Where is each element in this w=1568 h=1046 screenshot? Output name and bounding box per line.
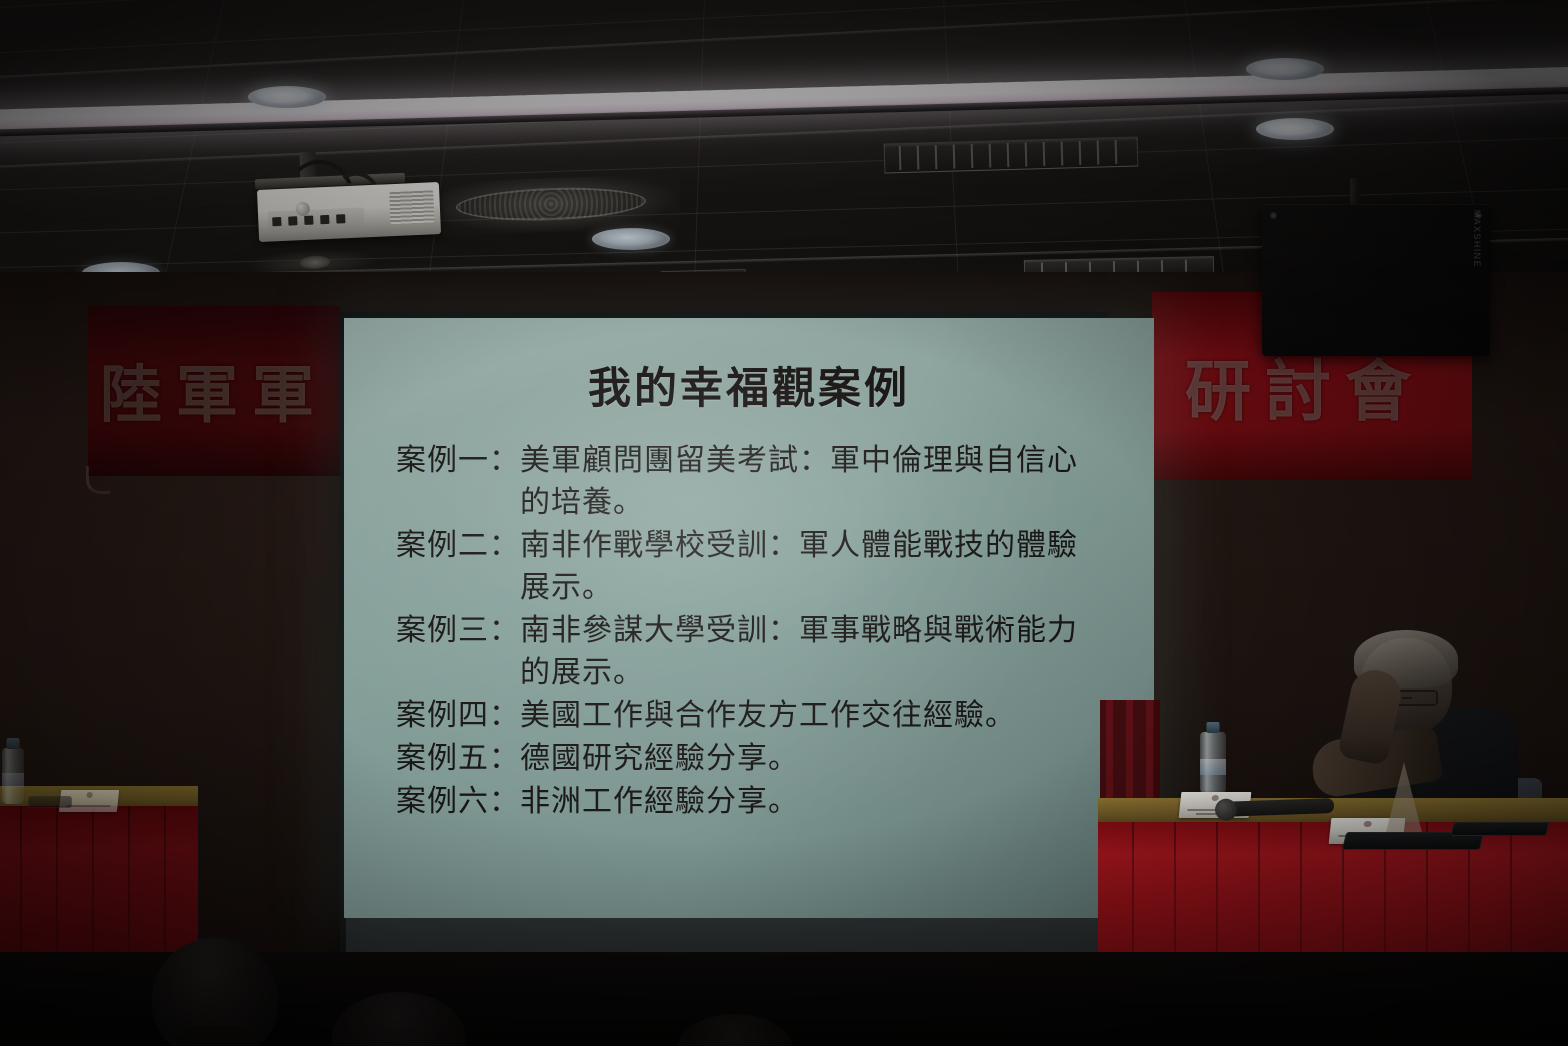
case-text: 南非參謀大學受訓：軍事戰略與戰術能力	[520, 610, 1130, 652]
ceiling-grid-rail	[0, 0, 1568, 84]
tablet-device	[1450, 822, 1549, 836]
case-continuation: 的展示。	[396, 652, 1130, 694]
case-label: 案例二：	[396, 525, 520, 567]
left-banner-text: 陸軍軍	[88, 344, 340, 434]
case-label: 案例六：	[396, 781, 520, 823]
banner-fold-detail	[86, 466, 110, 494]
wall-speaker: MAXSHINE	[1262, 204, 1490, 356]
ceiling-projector	[257, 182, 441, 242]
case-continuation: 展示。	[396, 567, 1130, 609]
case-label: 案例三：	[396, 610, 520, 652]
tablet-device	[28, 796, 72, 808]
projected-slide: 我的幸福觀案例 案例一： 美軍顧問團留美考試：軍中倫理與自信心 的培養。 案例二…	[344, 318, 1154, 918]
ceiling-tile-seam	[691, 0, 707, 290]
slide-case-item: 案例二： 南非作戰學校受訓：軍人體能戰技的體驗 展示。	[396, 525, 1130, 609]
recessed-downlight	[1246, 58, 1324, 80]
case-label: 案例五：	[396, 738, 520, 780]
case-text: 美軍顧問團留美考試：軍中倫理與自信心	[520, 440, 1130, 482]
speaker-brand-label: MAXSHINE	[1472, 210, 1482, 268]
slide-case-item: 案例六： 非洲工作經驗分享。	[396, 781, 1130, 823]
ceiling-tile-seam	[0, 130, 1568, 197]
slide-case-item: 案例四： 美國工作與合作友方工作交往經驗。	[396, 695, 1130, 737]
slide-title: 我的幸福觀案例	[344, 354, 1154, 416]
case-text: 美國工作與合作友方工作交往經驗。	[520, 695, 1130, 737]
left-red-banner: 陸軍軍	[88, 306, 340, 476]
case-label: 案例四：	[396, 695, 520, 737]
case-label: 案例一：	[396, 440, 520, 482]
case-continuation: 的培養。	[396, 482, 1130, 524]
case-text: 德國研究經驗分享。	[520, 738, 1130, 780]
conference-room-photo: 陸軍軍 研討會 MAXSHINE 我的幸福觀案例 案例一： 美軍顧問團留美考試：…	[0, 0, 1568, 1046]
water-bottle	[2, 748, 24, 804]
air-conditioning-vent	[884, 136, 1139, 173]
recessed-downlight	[1256, 118, 1334, 140]
ceiling-tile-seam	[419, 0, 471, 290]
recessed-downlight	[592, 228, 670, 250]
recessed-downlight	[248, 86, 326, 108]
slide-body: 案例一： 美軍顧問團留美考試：軍中倫理與自信心 的培養。 案例二： 南非作戰學校…	[396, 440, 1130, 824]
water-bottle	[1200, 732, 1226, 794]
ceiling-tile-seam	[0, 0, 1568, 19]
slide-case-item: 案例一： 美軍顧問團留美考試：軍中倫理與自信心 的培養。	[396, 440, 1130, 524]
slide-content: 我的幸福觀案例 案例一： 美軍顧問團留美考試：軍中倫理與自信心 的培養。 案例二…	[344, 318, 1154, 918]
case-text: 南非作戰學校受訓：軍人體能戰技的體驗	[520, 525, 1130, 567]
ceiling-tile-seam	[0, 0, 1568, 63]
audience-member	[152, 938, 278, 1046]
slide-case-item: 案例五： 德國研究經驗分享。	[396, 738, 1130, 780]
case-text: 非洲工作經驗分享。	[520, 781, 1130, 823]
ceiling-exhaust-fan	[429, 174, 681, 237]
slide-case-item: 案例三： 南非參謀大學受訓：軍事戰略與戰術能力 的展示。	[396, 610, 1130, 694]
